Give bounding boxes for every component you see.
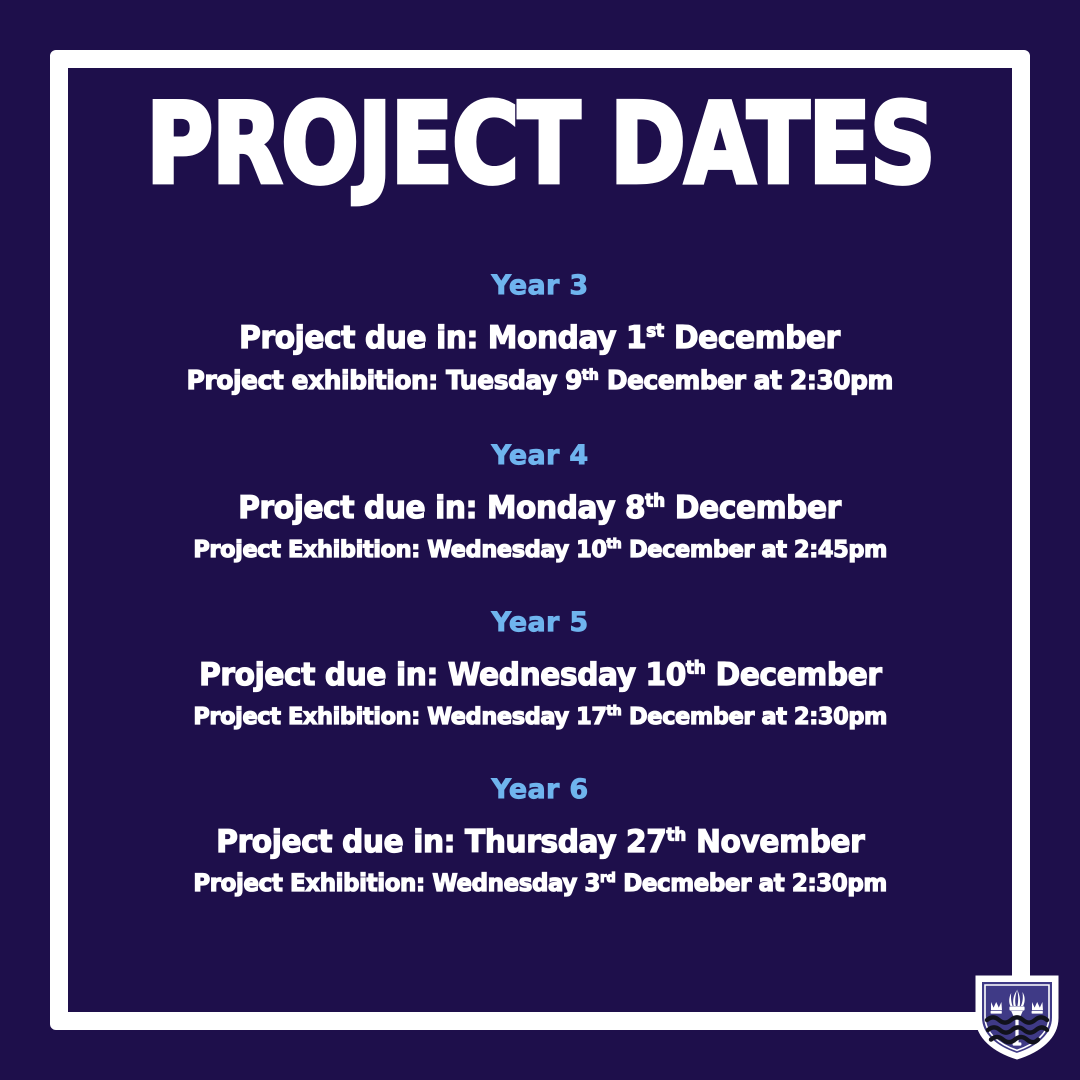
line-text-tail: December at 2:45pm <box>621 535 886 563</box>
year-block: Year 5Project due in: Wednesday 10th Dec… <box>68 607 1012 734</box>
project-due-line: Project due in: Monday 1st December <box>240 316 841 362</box>
page-title: Project Dates <box>146 90 934 201</box>
project-exhibition-line: Project Exhibition: Wednesday 3rd Decmeb… <box>193 866 887 902</box>
project-due-line: Project due in: Thursday 27th November <box>216 820 864 866</box>
project-exhibition-line: Project Exhibition: Wednesday 10th Decem… <box>193 532 887 567</box>
project-exhibition-line: Project Exhibition: Wednesday 17th Decem… <box>193 699 887 734</box>
year-label-year-5: Year 5 <box>492 607 589 638</box>
line-text: Project Exhibition: Wednesday 3 <box>193 869 600 897</box>
year-label-year-3: Year 3 <box>492 270 589 301</box>
ordinal-suffix: th <box>666 825 686 845</box>
year-block: Year 4Project due in: Monday 8th Decembe… <box>68 440 1012 567</box>
school-crest-shield-icon <box>972 970 1062 1062</box>
project-due-line: Project due in: Monday 8th December <box>239 486 842 532</box>
ordinal-suffix: th <box>686 659 706 679</box>
line-text-tail: December <box>665 490 841 526</box>
year-label-year-4: Year 4 <box>492 440 589 471</box>
year-block: Year 3Project due in: Monday 1st Decembe… <box>68 270 1012 400</box>
ordinal-suffix: th <box>582 366 599 383</box>
line-text: Project due in: Wednesday 10 <box>199 657 686 693</box>
line-text-tail: December <box>705 657 881 693</box>
project-due-line: Project due in: Wednesday 10th December <box>199 653 882 699</box>
ordinal-suffix: th <box>606 537 621 552</box>
line-text-tail: December <box>664 320 840 356</box>
line-text: Project due in: Monday 1 <box>240 320 647 356</box>
ordinal-suffix: th <box>646 492 666 512</box>
line-text: Project due in: Thursday 27 <box>216 824 666 860</box>
line-text: Project exhibition: Tuesday 9 <box>187 366 582 396</box>
ordinal-suffix: rd <box>600 871 616 886</box>
line-text-tail: Decmeber at 2:30pm <box>616 869 887 897</box>
poster-canvas: Project Dates Year 3Project due in: Mond… <box>0 0 1080 1080</box>
line-text: Project due in: Monday 8 <box>239 490 646 526</box>
year-label-year-6: Year 6 <box>492 774 589 805</box>
line-text-tail: December at 2:30pm <box>599 366 893 396</box>
ordinal-suffix: st <box>647 322 665 342</box>
year-block: Year 6Project due in: Thursday 27th Nove… <box>68 774 1012 901</box>
poster-content: Project Dates Year 3Project due in: Mond… <box>68 68 1012 1012</box>
year-groups-list: Year 3Project due in: Monday 1st Decembe… <box>68 270 1012 901</box>
line-text-tail: December at 2:30pm <box>621 702 886 730</box>
project-exhibition-line: Project exhibition: Tuesday 9th December… <box>187 362 893 400</box>
ordinal-suffix: th <box>606 704 621 719</box>
line-text-tail: November <box>686 824 864 860</box>
line-text: Project Exhibition: Wednesday 17 <box>193 702 606 730</box>
line-text: Project Exhibition: Wednesday 10 <box>193 535 606 563</box>
